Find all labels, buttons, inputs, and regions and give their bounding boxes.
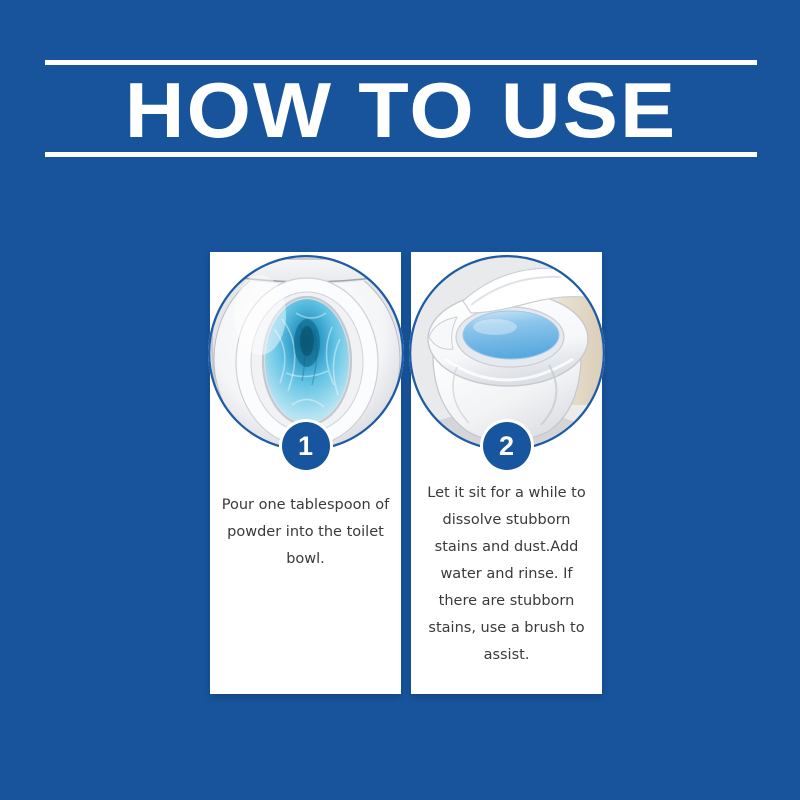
step-caption: Let it sit for a while to dissolve stubb… <box>421 480 592 669</box>
header: HOW TO USE <box>45 60 757 160</box>
step-card-2: 2 Let it sit for a while to dissolve stu… <box>411 252 602 694</box>
how-to-use-infographic: HOW TO USE <box>0 0 800 800</box>
step-card-1: 1 Pour one tablespoon of powder into the… <box>210 252 401 694</box>
page-title: HOW TO USE <box>24 70 779 150</box>
header-rule-top <box>45 60 757 65</box>
step-number-badge: 1 <box>282 422 330 470</box>
steps-row: 1 Pour one tablespoon of powder into the… <box>210 252 602 694</box>
header-rule-bottom <box>45 152 757 157</box>
step-caption: Pour one tablespoon of powder into the t… <box>220 492 391 573</box>
step-number-badge: 2 <box>483 422 531 470</box>
